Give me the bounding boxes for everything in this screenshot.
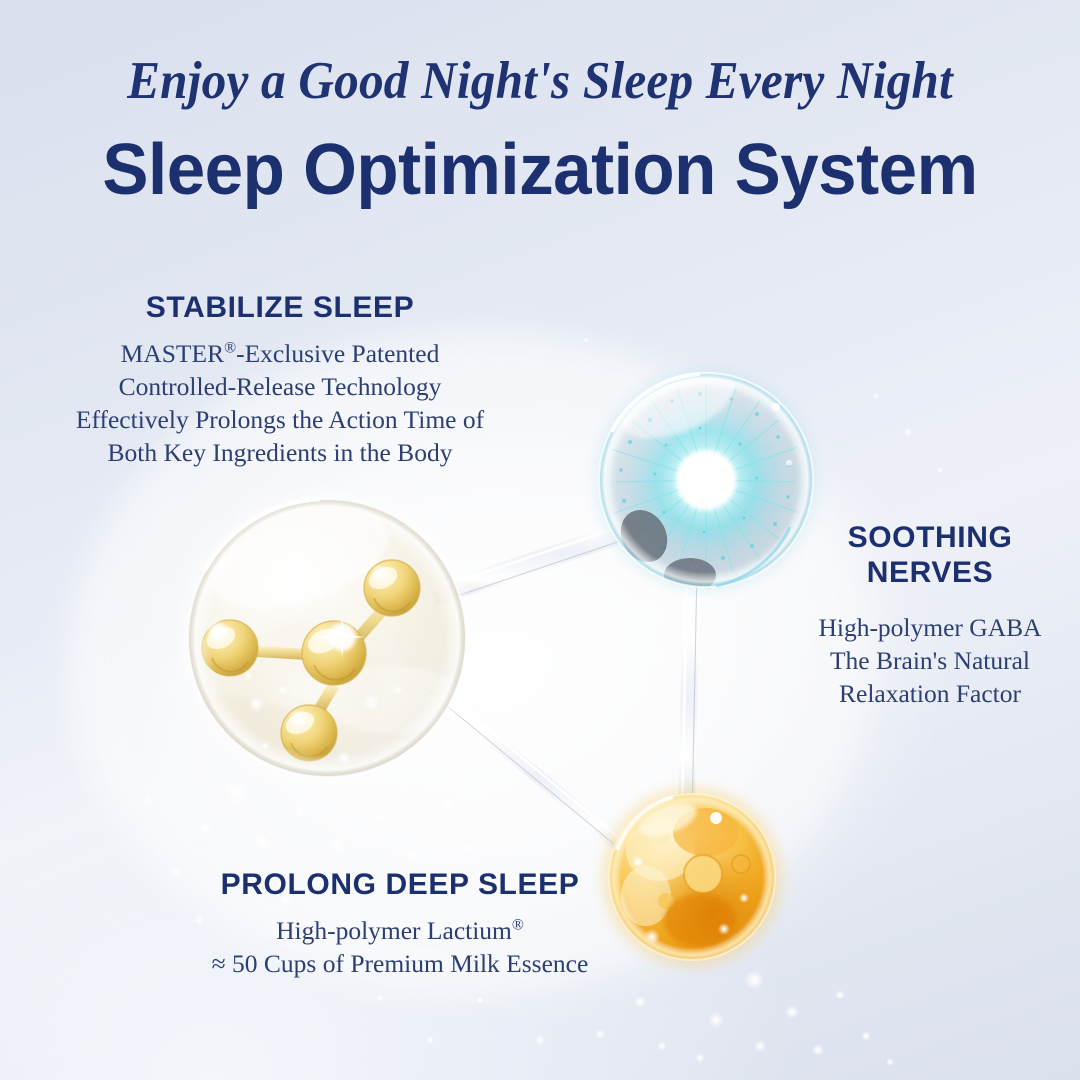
callout-stabilize-sleep: STABILIZE SLEEP MASTER®-Exclusive Patent… <box>0 291 560 469</box>
header-eyebrow: Enjoy a Good Night's Sleep Every Night <box>38 55 1042 108</box>
callout-prolong-heading: PROLONG DEEP SLEEP <box>118 868 682 903</box>
callout-prolong-body: High-polymer Lactium®≈ 50 Cups of Premiu… <box>118 914 682 980</box>
callout-soothing-heading-line1: SOOTHING <box>780 521 1080 556</box>
callout-stabilize-heading: STABILIZE SLEEP <box>0 291 560 326</box>
callout-prolong-deep-sleep: PROLONG DEEP SLEEP High-polymer Lactium®… <box>118 868 682 980</box>
poster-canvas: Enjoy a Good Night's Sleep Every Night S… <box>0 0 1080 1080</box>
callout-soothing-nerves: SOOTHING NERVES High-polymer GABAThe Bra… <box>780 521 1080 710</box>
callout-soothing-body: High-polymer GABAThe Brain's NaturalRela… <box>780 611 1080 710</box>
callout-soothing-heading-line2: NERVES <box>780 556 1080 591</box>
callout-stabilize-body: MASTER®-Exclusive PatentedControlled-Rel… <box>0 337 560 470</box>
poster-header: Enjoy a Good Night's Sleep Every Night S… <box>0 0 1080 206</box>
page-title: Sleep Optimization System <box>22 134 1059 206</box>
